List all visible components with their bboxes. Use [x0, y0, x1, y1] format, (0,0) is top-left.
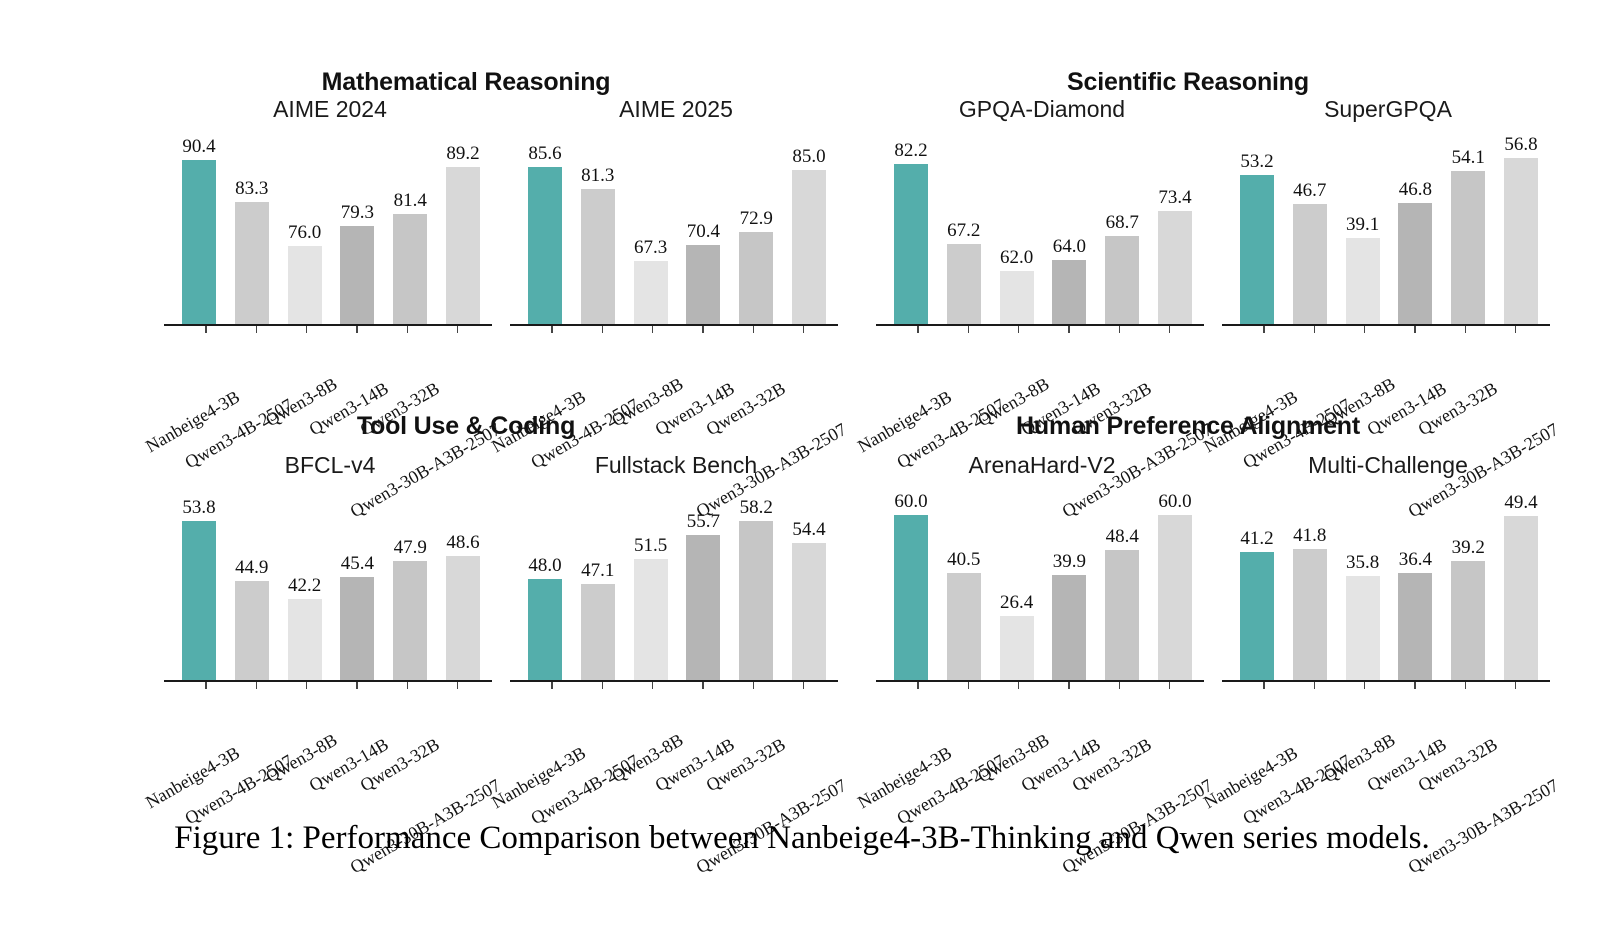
bar[interactable] — [182, 521, 216, 680]
bar[interactable] — [1052, 575, 1086, 680]
bar[interactable] — [528, 579, 562, 680]
bar[interactable] — [1052, 260, 1086, 324]
x-axis-tick — [1364, 326, 1366, 333]
chart-panel: Fullstack Bench48.047.151.555.758.254.4N… — [496, 452, 856, 762]
x-axis-labels: Nanbeige4-3BQwen3-4B-2507Qwen3-8BQwen3-1… — [522, 690, 832, 760]
bar-slot: 44.9 — [233, 500, 271, 680]
bar-slot: 47.1 — [579, 500, 617, 680]
bar-slot: 82.2 — [892, 144, 930, 324]
chart-title: AIME 2025 — [496, 96, 856, 123]
bar-slot: 70.4 — [684, 144, 722, 324]
bar-value-label: 60.0 — [894, 492, 927, 511]
bar-slot: 89.2 — [444, 144, 482, 324]
bar-value-label: 58.2 — [740, 498, 773, 517]
bar-value-label: 47.9 — [394, 538, 427, 557]
chart-title: Multi-Challenge — [1208, 452, 1568, 479]
x-axis-tick — [1465, 326, 1467, 333]
bar[interactable] — [1105, 236, 1139, 324]
bar[interactable] — [1240, 175, 1274, 324]
section-header-scientific-reasoning: Scientific Reasoning — [1067, 68, 1309, 97]
x-axis-tick — [1314, 682, 1316, 689]
bar-value-label: 39.2 — [1452, 538, 1485, 557]
bar-value-label: 47.1 — [581, 561, 614, 580]
bar-group: 48.047.151.555.758.254.4 — [522, 500, 832, 680]
x-axis-tick — [803, 326, 805, 333]
x-axis-tick — [1515, 682, 1517, 689]
bar-slot: 55.7 — [684, 500, 722, 680]
bar[interactable] — [581, 189, 615, 324]
bar-slot: 64.0 — [1050, 144, 1088, 324]
bar[interactable] — [1451, 171, 1485, 324]
x-axis-tick — [1263, 326, 1265, 333]
x-axis-tick — [205, 682, 207, 689]
bar[interactable] — [947, 573, 981, 680]
bar[interactable] — [288, 246, 322, 324]
bar[interactable] — [792, 543, 826, 680]
x-axis-tick — [968, 326, 970, 333]
x-axis-tick — [1068, 326, 1070, 333]
bar[interactable] — [947, 244, 981, 324]
bar-value-label: 49.4 — [1504, 493, 1537, 512]
chart-panel: SuperGPQA53.246.739.146.854.156.8Nanbeig… — [1208, 96, 1568, 406]
bar-value-label: 55.7 — [687, 512, 720, 531]
bar-value-label: 85.6 — [528, 144, 561, 163]
bar-slot: 36.4 — [1396, 500, 1434, 680]
bar[interactable] — [446, 167, 480, 324]
x-axis-tick — [803, 682, 805, 689]
bar-slot: 76.0 — [286, 144, 324, 324]
bar-slot: 39.9 — [1050, 500, 1088, 680]
x-axis-tick — [551, 682, 553, 689]
x-axis-tick — [917, 682, 919, 689]
bar[interactable] — [1346, 238, 1380, 324]
chart-title: SuperGPQA — [1208, 96, 1568, 123]
bar[interactable] — [1158, 211, 1192, 324]
x-axis-tick — [1169, 682, 1171, 689]
bar-slot: 54.1 — [1449, 144, 1487, 324]
bar[interactable] — [182, 160, 216, 324]
bar[interactable] — [894, 164, 928, 324]
bar-value-label: 89.2 — [446, 144, 479, 163]
bar-value-label: 51.5 — [634, 536, 667, 555]
bar-value-label: 81.4 — [394, 191, 427, 210]
x-axis-tick — [356, 682, 358, 689]
bar-value-label: 41.8 — [1293, 526, 1326, 545]
bar[interactable] — [739, 521, 773, 680]
plot-area: 90.483.376.079.381.489.2 — [176, 144, 486, 324]
bar-slot: 39.2 — [1449, 500, 1487, 680]
bar-value-label: 48.6 — [446, 533, 479, 552]
x-axis-line — [510, 324, 838, 326]
bar-value-label: 46.8 — [1399, 180, 1432, 199]
chart-panel: Multi-Challenge41.241.835.836.439.249.4N… — [1208, 452, 1568, 762]
x-axis-tick — [407, 682, 409, 689]
chart-panel: ArenaHard-V260.040.526.439.948.460.0Nanb… — [862, 452, 1222, 762]
bar[interactable] — [894, 515, 928, 680]
bar[interactable] — [235, 581, 269, 680]
bar-value-label: 70.4 — [687, 222, 720, 241]
chart-title: AIME 2024 — [150, 96, 510, 123]
x-axis-line — [876, 680, 1204, 682]
bar[interactable] — [1346, 576, 1380, 680]
x-axis-labels: Nanbeige4-3BQwen3-4B-2507Qwen3-8BQwen3-1… — [888, 690, 1198, 760]
bar-slot: 79.3 — [338, 144, 376, 324]
bar-value-label: 36.4 — [1399, 550, 1432, 569]
bar-slot: 46.8 — [1396, 144, 1434, 324]
bar-slot: 60.0 — [892, 500, 930, 680]
bar-slot: 72.9 — [737, 144, 775, 324]
x-axis-tick — [753, 682, 755, 689]
bar-slot: 48.0 — [526, 500, 564, 680]
bar-group: 90.483.376.079.381.489.2 — [176, 144, 486, 324]
bar-value-label: 41.2 — [1240, 529, 1273, 548]
bar[interactable] — [634, 261, 668, 324]
x-axis-tick — [1515, 326, 1517, 333]
x-axis-tick — [1465, 682, 1467, 689]
bar-group: 41.241.835.836.439.249.4 — [1234, 500, 1544, 680]
bar[interactable] — [1293, 549, 1327, 680]
bar-value-label: 85.0 — [792, 147, 825, 166]
bar-slot: 85.6 — [526, 144, 564, 324]
bar-group: 85.681.367.370.472.985.0 — [522, 144, 832, 324]
x-axis-tick — [1018, 682, 1020, 689]
x-axis-labels: Nanbeige4-3BQwen3-4B-2507Qwen3-8BQwen3-1… — [176, 690, 486, 760]
bar-value-label: 60.0 — [1158, 492, 1191, 511]
bar[interactable] — [1398, 203, 1432, 324]
bar-value-label: 76.0 — [288, 223, 321, 242]
bar[interactable] — [686, 535, 720, 680]
bar-value-label: 39.1 — [1346, 215, 1379, 234]
bar[interactable] — [288, 599, 322, 680]
bar-slot: 62.0 — [998, 144, 1036, 324]
bar-value-label: 73.4 — [1158, 188, 1191, 207]
bar-slot: 35.8 — [1344, 500, 1382, 680]
x-axis-tick — [551, 326, 553, 333]
x-axis-line — [164, 680, 492, 682]
chart-title: ArenaHard-V2 — [862, 452, 1222, 479]
x-axis-line — [164, 324, 492, 326]
bar[interactable] — [1504, 158, 1538, 324]
chart-panel: GPQA-Diamond82.267.262.064.068.773.4Nanb… — [862, 96, 1222, 406]
bar-value-label: 67.2 — [947, 221, 980, 240]
x-axis-labels: Nanbeige4-3BQwen3-4B-2507Qwen3-8BQwen3-1… — [176, 334, 486, 404]
bar-slot: 58.2 — [737, 500, 775, 680]
bar-slot: 67.2 — [945, 144, 983, 324]
x-axis-tick — [457, 682, 459, 689]
bar[interactable] — [581, 584, 615, 680]
x-axis-tick — [306, 682, 308, 689]
bar-slot: 40.5 — [945, 500, 983, 680]
x-axis-tick — [1068, 682, 1070, 689]
bar[interactable] — [739, 232, 773, 324]
bar-slot: 83.3 — [233, 144, 271, 324]
x-axis-tick — [702, 326, 704, 333]
bar-slot: 53.2 — [1238, 144, 1276, 324]
x-axis-labels: Nanbeige4-3BQwen3-4B-2507Qwen3-8BQwen3-1… — [888, 334, 1198, 404]
bar[interactable] — [340, 577, 374, 680]
bar-slot: 85.0 — [790, 144, 828, 324]
x-axis-tick — [1364, 682, 1366, 689]
x-axis-tick — [1414, 682, 1416, 689]
plot-area: 60.040.526.439.948.460.0 — [888, 500, 1198, 680]
x-axis-tick — [1018, 326, 1020, 333]
bar-value-label: 48.4 — [1106, 527, 1139, 546]
chart-title: Fullstack Bench — [496, 452, 856, 479]
x-axis-tick — [306, 326, 308, 333]
bar-slot: 48.6 — [444, 500, 482, 680]
bar-slot: 67.3 — [632, 144, 670, 324]
bar-value-label: 53.8 — [182, 498, 215, 517]
bar[interactable] — [1105, 550, 1139, 680]
bar[interactable] — [235, 202, 269, 324]
x-axis-tick — [652, 326, 654, 333]
x-axis-tick — [1169, 326, 1171, 333]
bar-slot: 45.4 — [338, 500, 376, 680]
x-axis-tick — [702, 682, 704, 689]
x-axis-tick — [457, 326, 459, 333]
bar-slot: 73.4 — [1156, 144, 1194, 324]
bar-value-label: 45.4 — [341, 554, 374, 573]
bar[interactable] — [1158, 515, 1192, 680]
bar-value-label: 54.4 — [792, 520, 825, 539]
bar[interactable] — [393, 214, 427, 324]
x-axis-tick — [1263, 682, 1265, 689]
bar-value-label: 81.3 — [581, 166, 614, 185]
plot-area: 48.047.151.555.758.254.4 — [522, 500, 832, 680]
x-axis-tick — [602, 326, 604, 333]
bar[interactable] — [634, 559, 668, 680]
bar-slot: 39.1 — [1344, 144, 1382, 324]
x-axis-tick — [753, 326, 755, 333]
bar[interactable] — [1504, 516, 1538, 680]
bar-value-label: 56.8 — [1504, 135, 1537, 154]
x-axis-tick — [1119, 682, 1121, 689]
bar-slot: 81.4 — [391, 144, 429, 324]
bar[interactable] — [1398, 573, 1432, 680]
bar-value-label: 72.9 — [740, 209, 773, 228]
bar-group: 60.040.526.439.948.460.0 — [888, 500, 1198, 680]
bar-slot: 42.2 — [286, 500, 324, 680]
x-axis-line — [1222, 680, 1550, 682]
chart-panel: BFCL-v453.844.942.245.447.948.6Nanbeige4… — [150, 452, 510, 762]
x-axis-tick — [652, 682, 654, 689]
x-axis-tick — [1414, 326, 1416, 333]
bar-value-label: 83.3 — [235, 179, 268, 198]
x-axis-labels: Nanbeige4-3BQwen3-4B-2507Qwen3-8BQwen3-1… — [522, 334, 832, 404]
bar[interactable] — [1240, 552, 1274, 680]
bar-slot: 51.5 — [632, 500, 670, 680]
bar-value-label: 53.2 — [1240, 152, 1273, 171]
bar-slot: 48.4 — [1103, 500, 1141, 680]
x-axis-line — [876, 324, 1204, 326]
bar-group: 53.844.942.245.447.948.6 — [176, 500, 486, 680]
bar[interactable] — [340, 226, 374, 324]
bar-value-label: 54.1 — [1452, 148, 1485, 167]
bar-value-label: 26.4 — [1000, 593, 1033, 612]
bar-value-label: 39.9 — [1053, 552, 1086, 571]
bar-value-label: 48.0 — [528, 556, 561, 575]
bar-value-label: 64.0 — [1053, 237, 1086, 256]
bar-slot: 46.7 — [1291, 144, 1329, 324]
bar-slot: 90.4 — [180, 144, 218, 324]
x-axis-tick — [256, 682, 258, 689]
bar-value-label: 42.2 — [288, 576, 321, 595]
bar[interactable] — [1000, 616, 1034, 680]
bar-group: 53.246.739.146.854.156.8 — [1234, 144, 1544, 324]
x-axis-line — [1222, 324, 1550, 326]
bar-slot: 53.8 — [180, 500, 218, 680]
plot-area: 53.246.739.146.854.156.8 — [1234, 144, 1544, 324]
x-axis-labels: Nanbeige4-3BQwen3-4B-2507Qwen3-8BQwen3-1… — [1234, 334, 1544, 404]
x-axis-tick — [1119, 326, 1121, 333]
chart-title: BFCL-v4 — [150, 452, 510, 479]
chart-panel: AIME 202490.483.376.079.381.489.2Nanbeig… — [150, 96, 510, 406]
x-axis-tick — [356, 326, 358, 333]
bar-value-label: 68.7 — [1106, 213, 1139, 232]
x-axis-tick — [256, 326, 258, 333]
figure-caption: Figure 1: Performance Comparison between… — [0, 820, 1604, 857]
x-axis-tick — [407, 326, 409, 333]
bar-slot: 47.9 — [391, 500, 429, 680]
bar-slot: 41.2 — [1238, 500, 1276, 680]
bar-group: 82.267.262.064.068.773.4 — [888, 144, 1198, 324]
x-axis-tick — [1314, 326, 1316, 333]
x-axis-line — [510, 680, 838, 682]
section-header-mathematical-reasoning: Mathematical Reasoning — [322, 68, 611, 97]
bar-value-label: 79.3 — [341, 203, 374, 222]
plot-area: 85.681.367.370.472.985.0 — [522, 144, 832, 324]
figure-container: Mathematical Reasoning Scientific Reason… — [0, 0, 1604, 940]
bar[interactable] — [1451, 561, 1485, 680]
bar-slot: 41.8 — [1291, 500, 1329, 680]
bar-value-label: 62.0 — [1000, 248, 1033, 267]
plot-area: 53.844.942.245.447.948.6 — [176, 500, 486, 680]
bar-value-label: 46.7 — [1293, 181, 1326, 200]
x-axis-labels: Nanbeige4-3BQwen3-4B-2507Qwen3-8BQwen3-1… — [1234, 690, 1544, 760]
x-axis-tick — [205, 326, 207, 333]
bar[interactable] — [446, 556, 480, 680]
bar[interactable] — [393, 561, 427, 680]
plot-area: 41.241.835.836.439.249.4 — [1234, 500, 1544, 680]
bar-value-label: 44.9 — [235, 558, 268, 577]
plot-area: 82.267.262.064.068.773.4 — [888, 144, 1198, 324]
bar-value-label: 67.3 — [634, 238, 667, 257]
x-axis-tick — [968, 682, 970, 689]
chart-title: GPQA-Diamond — [862, 96, 1222, 123]
bar-value-label: 35.8 — [1346, 553, 1379, 572]
bar-slot: 54.4 — [790, 500, 828, 680]
bar[interactable] — [792, 170, 826, 324]
x-axis-tick — [602, 682, 604, 689]
bar[interactable] — [686, 245, 720, 324]
bar-slot: 49.4 — [1502, 500, 1540, 680]
bar[interactable] — [528, 167, 562, 324]
bar-slot: 56.8 — [1502, 144, 1540, 324]
bar-value-label: 82.2 — [894, 141, 927, 160]
x-axis-tick — [917, 326, 919, 333]
bar-slot: 68.7 — [1103, 144, 1141, 324]
bar[interactable] — [1293, 204, 1327, 324]
bar-slot: 81.3 — [579, 144, 617, 324]
bar-slot: 26.4 — [998, 500, 1036, 680]
bar[interactable] — [1000, 271, 1034, 324]
bar-value-label: 90.4 — [182, 137, 215, 156]
chart-panel: AIME 202585.681.367.370.472.985.0Nanbeig… — [496, 96, 856, 406]
bar-slot: 60.0 — [1156, 500, 1194, 680]
bar-value-label: 40.5 — [947, 550, 980, 569]
